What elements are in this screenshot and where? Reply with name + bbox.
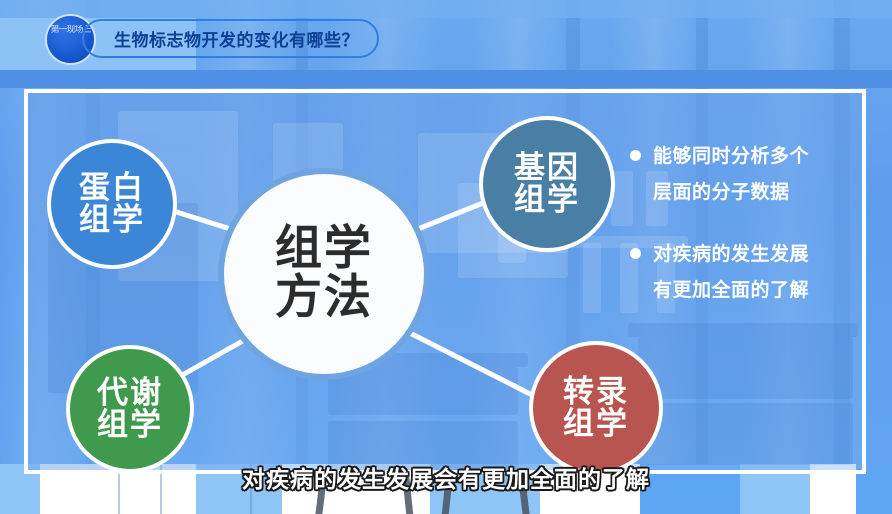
bullet-dot-icon [630,248,641,259]
video-frame: 第一现场 三分钟问答 生物标志物开发的变化有哪些？ [0,0,892,514]
connector-transcriptome [406,331,548,403]
node-center-line2: 方法 [275,274,373,323]
bullet-item: 能够同时分析多个 层面的分子数据 [630,138,866,210]
node-metabolomics-line1: 代谢 [97,377,163,409]
node-center-omics-method[interactable]: 组学 方法 [218,168,430,380]
node-metabolomics[interactable]: 代谢 组学 [66,345,194,473]
node-genomics-line1: 基因 [514,152,580,184]
node-proteomics-line2: 组学 [79,204,145,236]
node-center-line1: 组学 [275,225,373,274]
bullet-1-line-1: 能够同时分析多个 [653,138,809,174]
bullet-item: 对疾病的发生发展 有更加全面的了解 [630,236,866,308]
node-genomics-line2: 组学 [514,184,580,216]
background-top-band [0,0,892,18]
node-transcriptomics[interactable]: 转录 组学 [529,341,663,474]
bullet-list: 能够同时分析多个 层面的分子数据 对疾病的发生发展 有更加全面的了解 [630,138,866,334]
subtitle-caption: 对疾病的发生发展会有更加全面的了解 [0,460,892,494]
bullet-1-line-2: 层面的分子数据 [653,174,809,210]
bullet-2-line-1: 对疾病的发生发展 [653,236,809,272]
bullet-text-block: 对疾病的发生发展 有更加全面的了解 [653,236,809,308]
node-proteomics[interactable]: 蛋白 组学 [47,139,177,269]
headline-text: 生物标志物开发的变化有哪些？ [114,26,359,51]
node-transcriptomics-line2: 组学 [563,408,629,440]
node-proteomics-line1: 蛋白 [79,172,145,204]
bullet-dot-icon [630,150,641,161]
background-mid-band [0,70,892,88]
bullet-text-block: 能够同时分析多个 层面的分子数据 [653,138,809,210]
node-transcriptomics-line1: 转录 [563,376,629,408]
node-genomics[interactable]: 基因 组学 [479,116,615,252]
bullet-2-line-2: 有更加全面的了解 [653,272,809,308]
headline-pill: 生物标志物开发的变化有哪些？ [82,19,379,58]
node-metabolomics-line2: 组学 [97,409,163,441]
